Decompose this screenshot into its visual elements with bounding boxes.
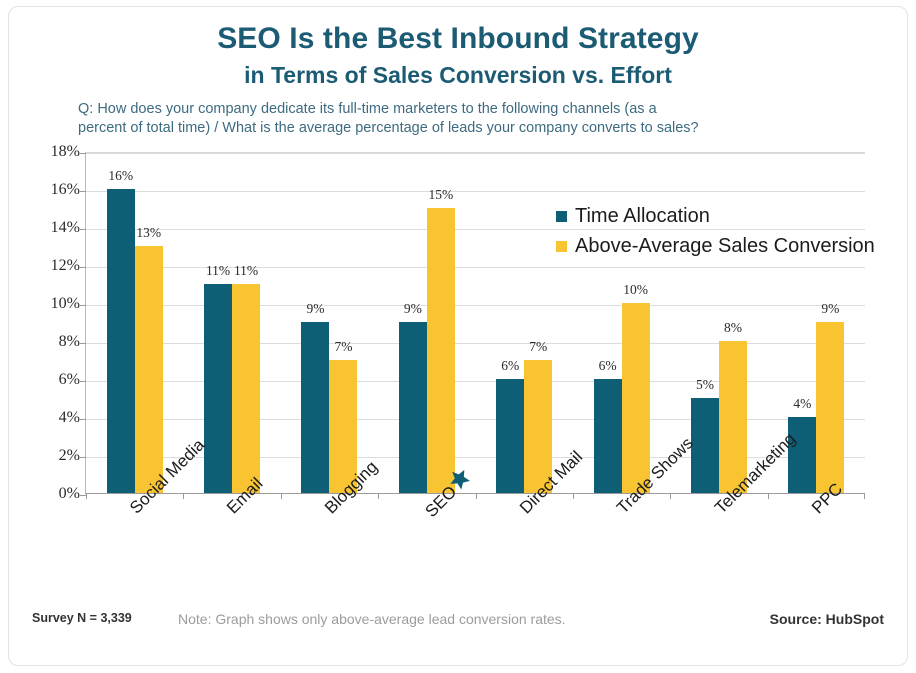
x-axis-label-cell: Telemarketing <box>670 494 768 604</box>
bar[interactable]: 9% <box>816 322 844 493</box>
bar-group: 16%13% <box>86 152 183 493</box>
bar[interactable]: 15% <box>427 208 455 493</box>
x-axis-label-cell: Social Media <box>85 494 183 604</box>
bar[interactable]: 13% <box>135 246 163 493</box>
y-axis: 0%2%4%6%8%10%12%14%16%18% <box>20 152 80 494</box>
legend-label: Time Allocation <box>575 205 710 228</box>
y-axis-tick-label: 14% <box>24 219 80 237</box>
y-axis-tick-label: 10% <box>24 295 80 313</box>
legend-swatch-icon <box>556 241 567 252</box>
bar-value-label: 11% <box>206 263 230 279</box>
bar-value-label: 8% <box>724 320 742 336</box>
legend-item-time-allocation[interactable]: Time Allocation <box>556 201 876 231</box>
bar-value-label: 11% <box>234 263 258 279</box>
survey-size-label: Survey N = 3,339 <box>32 611 132 625</box>
chart-legend: Time Allocation Above-Average Sales Conv… <box>556 201 876 261</box>
bar-value-label: 6% <box>501 358 519 374</box>
bar[interactable]: 6% <box>594 379 622 493</box>
bar-value-label: 9% <box>821 301 839 317</box>
y-axis-tick-label: 12% <box>24 257 80 275</box>
bar-value-label: 16% <box>108 168 133 184</box>
y-axis-tick-label: 8% <box>24 333 80 351</box>
bar-value-label: 10% <box>623 282 648 298</box>
bar[interactable]: 10% <box>622 303 650 493</box>
question-line-1: Q: How does your company dedicate its fu… <box>78 101 657 117</box>
y-axis-tick-label: 6% <box>24 371 80 389</box>
x-axis-label-cell: PPC <box>768 494 866 604</box>
bar-value-label: 6% <box>599 358 617 374</box>
chart-title-line1: SEO Is the Best Inbound Strategy <box>0 22 916 56</box>
y-axis-tick-label: 16% <box>24 181 80 199</box>
x-axis-label-cell: Direct Mail <box>475 494 573 604</box>
x-axis-label-cell: Email <box>183 494 281 604</box>
bar-group: 9%15% <box>378 152 475 493</box>
bar-value-label: 7% <box>334 339 352 355</box>
x-axis-label-cell: Trade Shows <box>573 494 671 604</box>
y-axis-tick-label: 4% <box>24 409 80 427</box>
bar-value-label: 15% <box>428 187 453 203</box>
bar-value-label: 9% <box>404 301 422 317</box>
bar[interactable]: 16% <box>107 189 135 493</box>
x-axis-label-cell: Blogging <box>280 494 378 604</box>
x-axis-label-cell: SEO <box>378 494 476 604</box>
legend-swatch-icon <box>556 211 567 222</box>
bar-value-label: 4% <box>793 396 811 412</box>
bar-value-label: 7% <box>529 339 547 355</box>
bar-value-label: 5% <box>696 377 714 393</box>
bar[interactable]: 9% <box>399 322 427 493</box>
bar[interactable]: 11% <box>232 284 260 493</box>
question-line-2: percent of total time) / What is the ave… <box>78 119 840 138</box>
chart-title-line2: in Terms of Sales Conversion vs. Effort <box>0 62 916 89</box>
x-axis-category-labels: Social MediaEmailBloggingSEODirect MailT… <box>85 494 865 604</box>
chart-page: SEO Is the Best Inbound Strategy in Term… <box>0 0 916 673</box>
legend-label: Above-Average Sales Conversion <box>575 235 875 258</box>
chart-footer: Survey N = 3,339 Note: Graph shows only … <box>0 611 916 637</box>
bar-value-label: 9% <box>306 301 324 317</box>
bar[interactable]: 4% <box>788 417 816 493</box>
bar[interactable]: 9% <box>301 322 329 493</box>
bar[interactable]: 8% <box>719 341 747 493</box>
footer-note-label: Note: Graph shows only above-average lea… <box>178 611 566 627</box>
y-axis-tick-label: 2% <box>24 447 80 465</box>
bar-group: 9%7% <box>281 152 378 493</box>
source-label: Source: HubSpot <box>770 611 884 627</box>
legend-item-above-average-sales-conversion[interactable]: Above-Average Sales Conversion <box>556 231 876 261</box>
bar-value-label: 13% <box>136 225 161 241</box>
bar[interactable]: 11% <box>204 284 232 493</box>
y-axis-tick-label: 0% <box>24 485 80 503</box>
bar[interactable]: 6% <box>496 379 524 493</box>
y-axis-tick-label: 18% <box>24 143 80 161</box>
chart-question: Q: How does your company dedicate its fu… <box>78 100 840 138</box>
